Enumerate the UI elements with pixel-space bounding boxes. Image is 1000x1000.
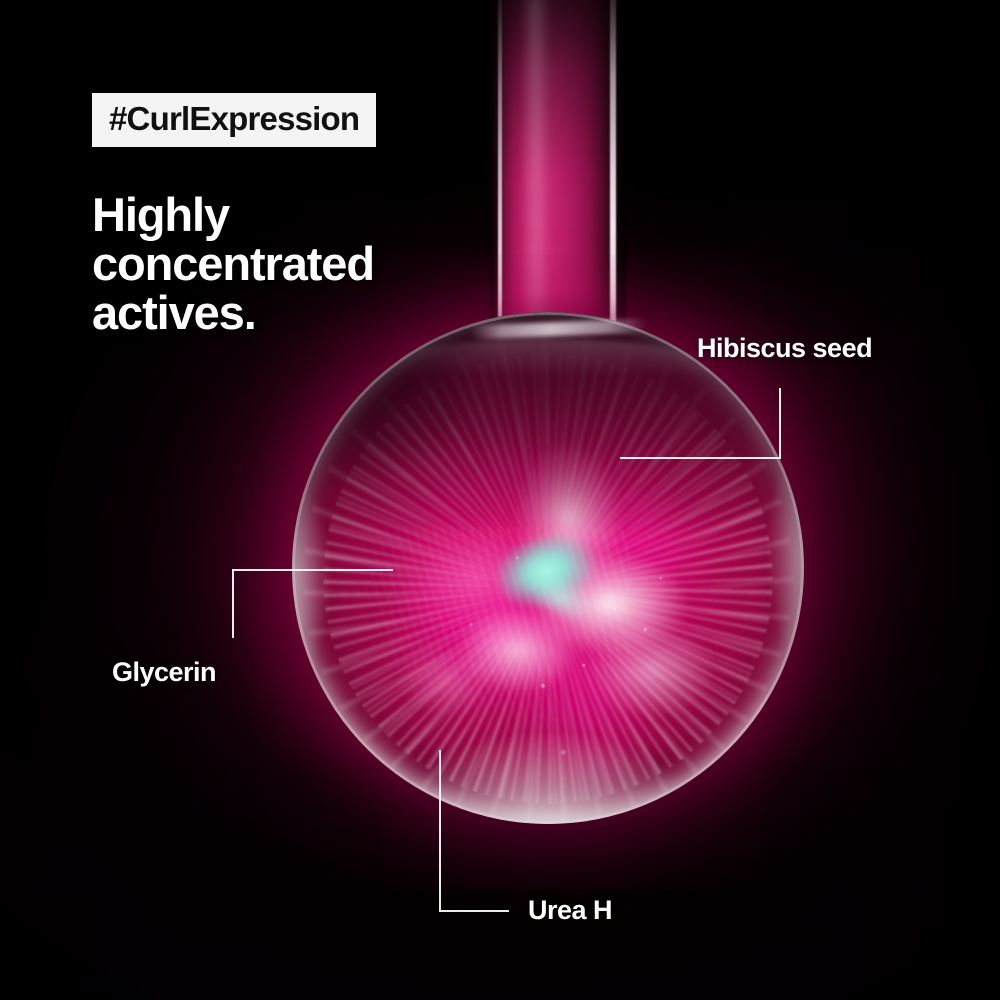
leader-line-glycerin-vertical [232,569,234,638]
callout-label-hibiscus-seed: Hibiscus seed [697,333,872,364]
headline: Highly concentrated actives. [92,191,374,338]
leader-line-hibiscus-vertical [779,388,781,459]
callout-label-urea-h: Urea H [528,895,612,926]
callout-label-glycerin: Glycerin [112,657,216,688]
leader-line-urea-vertical [439,750,441,912]
hashtag-badge: #CurlExpression [92,93,376,147]
headline-line-1: Highly [92,191,374,240]
headline-line-2: concentrated [92,240,374,289]
promo-banner: #CurlExpression Highly concentrated acti… [0,0,1000,1000]
leader-line-urea-horizontal [439,910,509,912]
headline-line-3: actives. [92,289,374,338]
leader-line-glycerin-horizontal [232,569,393,571]
leader-line-hibiscus-horizontal [620,457,781,459]
background-vignette [0,0,1000,1000]
